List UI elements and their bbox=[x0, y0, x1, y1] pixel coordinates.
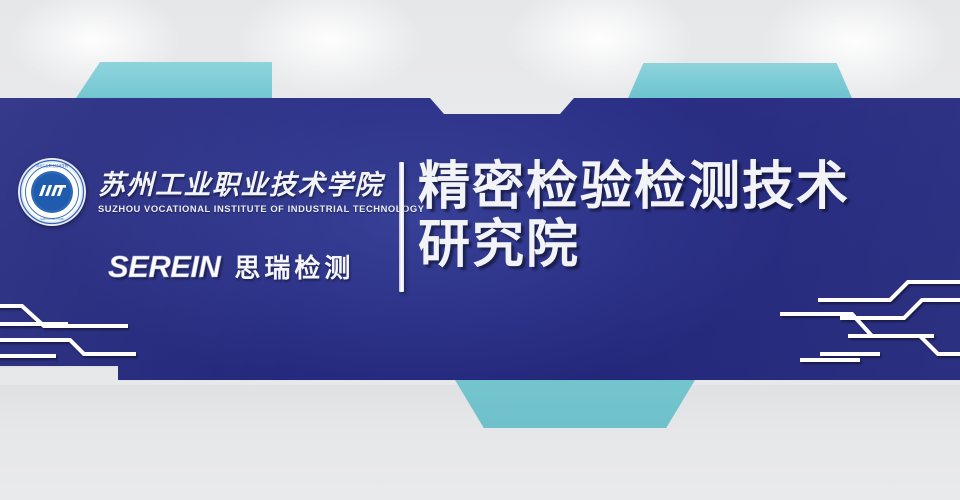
school-brand-row: 苏州工业职业技术学院 SUZHOU INSTITUTE 苏州工业职业技术学院 S… bbox=[16, 156, 396, 228]
school-brand-block: 苏州工业职业技术学院 SUZHOU INSTITUTE 苏州工业职业技术学院 S… bbox=[16, 156, 396, 228]
school-name-en: SUZHOU VOCATIONAL INSTITUTE OF INDUSTRIA… bbox=[98, 203, 425, 214]
partner-brand-cn: 思瑞检测 bbox=[234, 248, 354, 285]
vertical-divider-bar bbox=[399, 162, 404, 292]
page-title: 精密检验检测技术 研究院 bbox=[418, 158, 948, 274]
page-title-line2: 研究院 bbox=[418, 216, 948, 274]
teal-trapezoid-bottom bbox=[455, 380, 695, 428]
svg-text:苏州工业职业技术学院: 苏州工业职业技术学院 bbox=[36, 163, 69, 168]
svg-text:SUZHOU INSTITUTE: SUZHOU INSTITUTE bbox=[40, 218, 64, 221]
school-name-cn: 苏州工业职业技术学院 bbox=[98, 172, 425, 200]
panel-content: 苏州工业职业技术学院 SUZHOU INSTITUTE 苏州工业职业技术学院 S… bbox=[0, 98, 960, 380]
school-name-group: 苏州工业职业技术学院 SUZHOU VOCATIONAL INSTITUTE O… bbox=[98, 170, 425, 213]
signage-scene: 苏州工业职业技术学院 SUZHOU INSTITUTE 苏州工业职业技术学院 S… bbox=[0, 0, 960, 500]
suzhou-institute-circular-emblem: 苏州工业职业技术学院 SUZHOU INSTITUTE bbox=[16, 156, 88, 228]
partner-brand-row: SEREIN 思瑞检测 bbox=[108, 248, 354, 285]
partner-brand-en: SEREIN bbox=[108, 249, 220, 285]
page-title-line1: 精密检验检测技术 bbox=[418, 158, 948, 216]
